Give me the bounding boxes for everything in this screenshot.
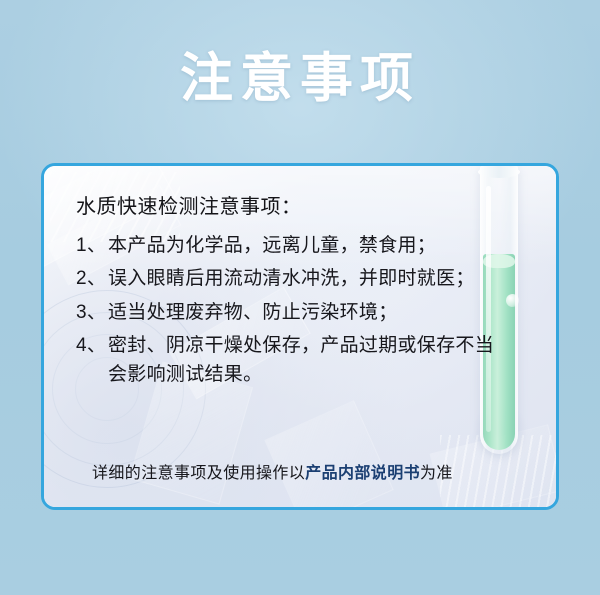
list-item-text: 本产品为化学品，远离儿童，禁食用； — [108, 234, 528, 258]
list-item-text: 密封、阴凉干燥处保存，产品过期或保存不当 会影响测试结果。 — [108, 334, 528, 388]
list-item-text: 适当处理废弃物、防止污染环境； — [108, 301, 528, 325]
list-item-text-line1: 密封、阴凉干燥处保存，产品过期或保存不当 — [108, 335, 494, 356]
list-item-text: 误入眼睛后用流动清水冲洗，并即时就医； — [108, 267, 528, 291]
footnote-suffix: 为准 — [420, 465, 453, 482]
list-item-text-line2: 会影响测试结果。 — [108, 363, 528, 387]
notice-card: 水质快速检测注意事项： 1、 本产品为化学品，远离儿童，禁食用； 2、 误入眼睛… — [41, 163, 559, 510]
notice-poster: 注意事项 水质快速检测注意事项： 1、 本产品为化学品，远离儿童，禁食用； — [0, 0, 600, 595]
page-title: 注意事项 — [180, 52, 420, 105]
list-item-number: 2、 — [76, 267, 108, 291]
footnote-prefix: 详细的注意事项及使用操作以 — [92, 465, 305, 482]
list-item-number: 1、 — [76, 234, 108, 258]
footnote-highlight: 产品内部说明书 — [305, 465, 420, 482]
list-item-number: 4、 — [76, 334, 108, 358]
list-item-number: 3、 — [76, 301, 108, 325]
list-item: 1、 本产品为化学品，远离儿童，禁食用； — [76, 234, 528, 258]
list-item: 2、 误入眼睛后用流动清水冲洗，并即时就医； — [76, 267, 528, 291]
notice-heading: 水质快速检测注意事项： — [76, 195, 528, 219]
list-item: 4、 密封、阴凉干燥处保存，产品过期或保存不当 会影响测试结果。 — [76, 334, 528, 388]
list-item: 3、 适当处理废弃物、防止污染环境； — [76, 301, 528, 325]
test-tube-rim — [478, 166, 520, 178]
footnote: 详细的注意事项及使用操作以产品内部说明书为准 — [92, 459, 552, 483]
notice-text-block: 水质快速检测注意事项： 1、 本产品为化学品，远离儿童，禁食用； 2、 误入眼睛… — [76, 195, 528, 397]
poster-title-area: 注意事项 — [0, 52, 600, 105]
